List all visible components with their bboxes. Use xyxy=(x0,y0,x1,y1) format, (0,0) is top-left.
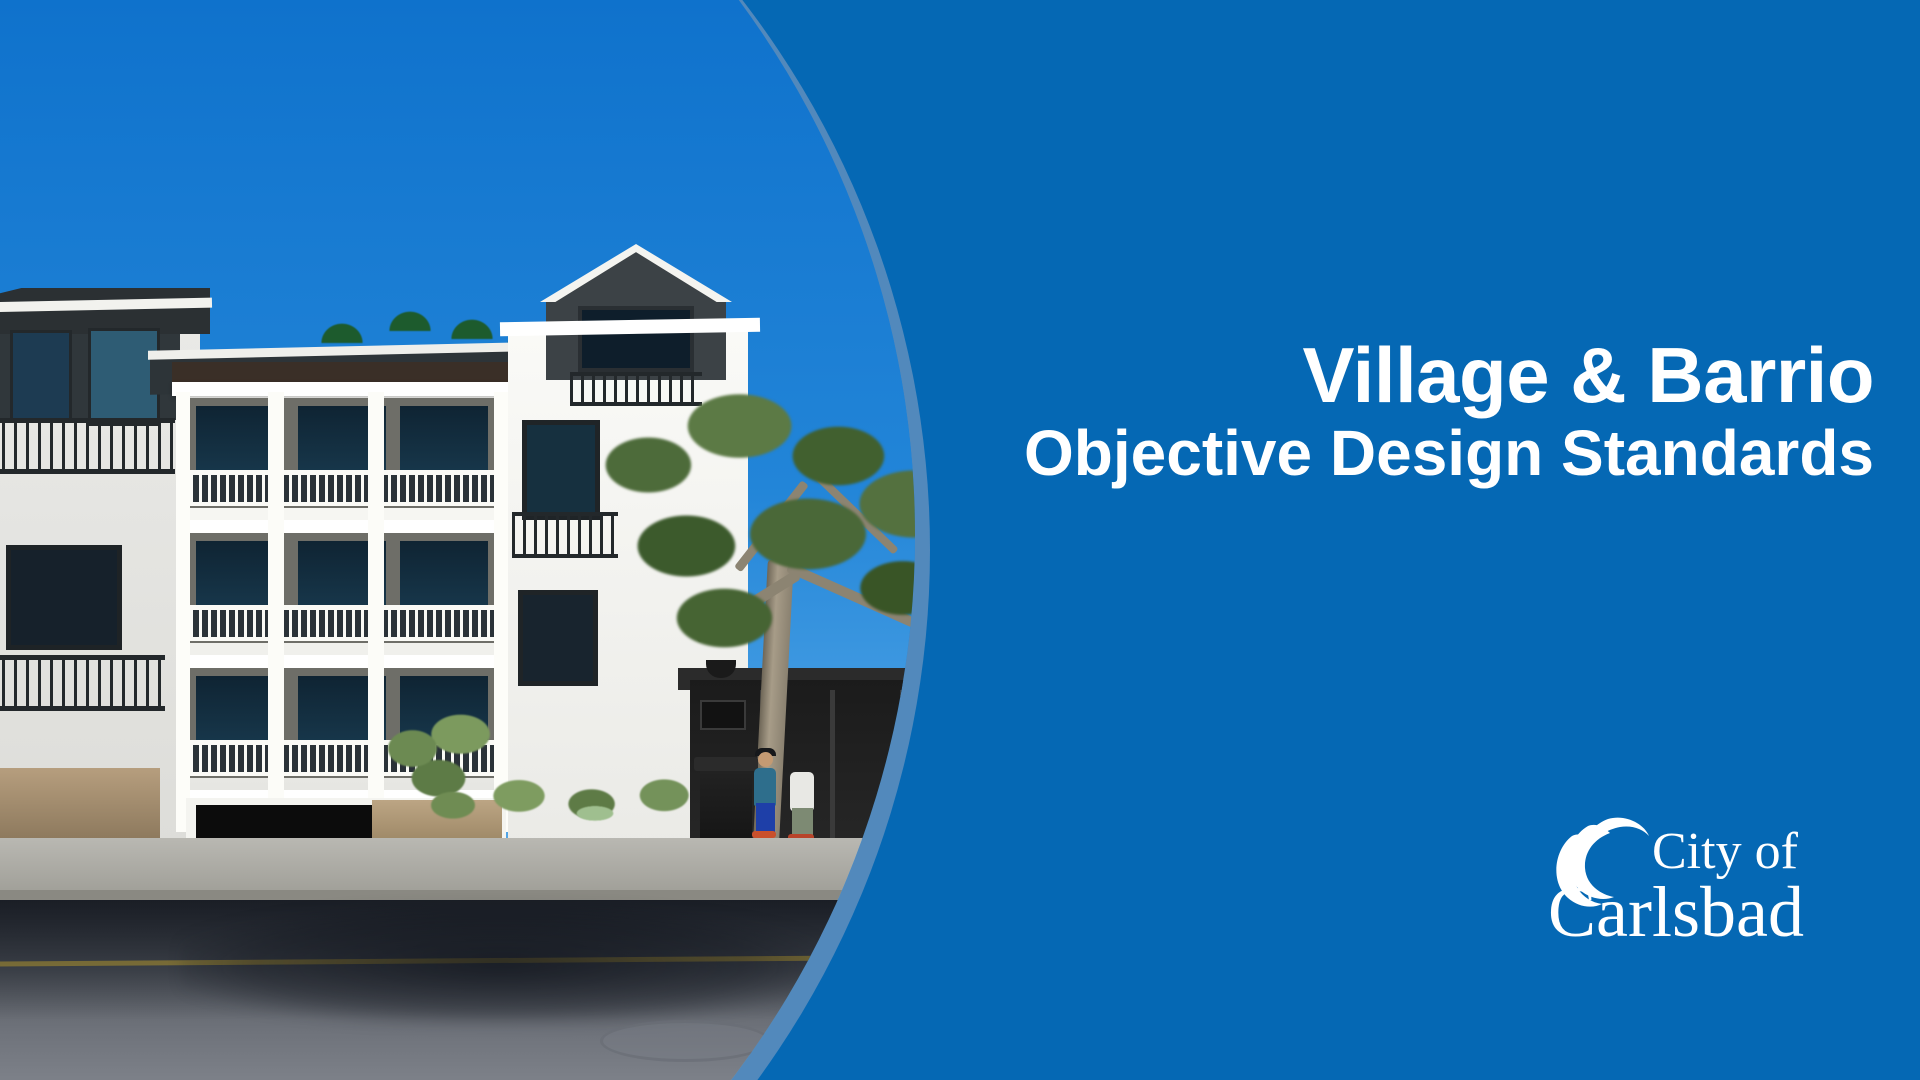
right-gable-window xyxy=(578,306,694,372)
pedestrian-shoes xyxy=(752,831,776,838)
manhole-cover xyxy=(600,1020,770,1062)
left-balcony-railing-mid xyxy=(0,655,165,711)
pedestrian-b-legs xyxy=(792,808,813,836)
page-title: Village & Barrio xyxy=(874,336,1874,414)
tree-canopy xyxy=(580,390,915,690)
trash-receptacle-lid xyxy=(694,757,758,771)
tower-column xyxy=(176,392,190,832)
title-slide: Village & Barrio Objective Design Standa… xyxy=(0,0,1920,1080)
pedestrian-legs xyxy=(756,803,775,833)
sidewalk xyxy=(0,838,915,898)
hero-photo-circle xyxy=(0,0,915,1080)
floor-slab xyxy=(176,655,512,668)
city-of-carlsbad-logo: City of Carlsbad xyxy=(1548,806,1828,966)
hero-photo xyxy=(0,0,915,1080)
balcony-level-3 xyxy=(184,398,502,508)
storefront-sign xyxy=(700,700,746,730)
pedestrian-head xyxy=(758,752,773,767)
balcony-railing xyxy=(190,470,496,506)
balcony-railing xyxy=(190,605,496,641)
balcony-opening xyxy=(400,406,488,474)
title-block: Village & Barrio Objective Design Standa… xyxy=(874,336,1874,487)
page-subtitle: Objective Design Standards xyxy=(874,420,1874,487)
storefront-mullion xyxy=(900,690,905,840)
pedestrian-b-torso xyxy=(790,772,814,812)
tower-cornice xyxy=(172,382,514,396)
tree-shadow-on-street xyxy=(180,905,820,1025)
pedestrian-torso xyxy=(754,768,776,806)
left-window-mid xyxy=(6,545,122,650)
storefront-mullion xyxy=(830,690,835,840)
planter-left xyxy=(0,768,160,838)
agave-plant xyxy=(560,775,630,823)
left-balcony-railing-upper xyxy=(0,418,175,474)
logo-line-2: Carlsbad xyxy=(1548,872,1804,952)
tower-column xyxy=(268,392,284,832)
floor-slab xyxy=(176,520,512,533)
balcony-opening xyxy=(400,541,488,609)
left-window-upper-a xyxy=(10,330,72,422)
balcony-level-2 xyxy=(184,533,502,643)
